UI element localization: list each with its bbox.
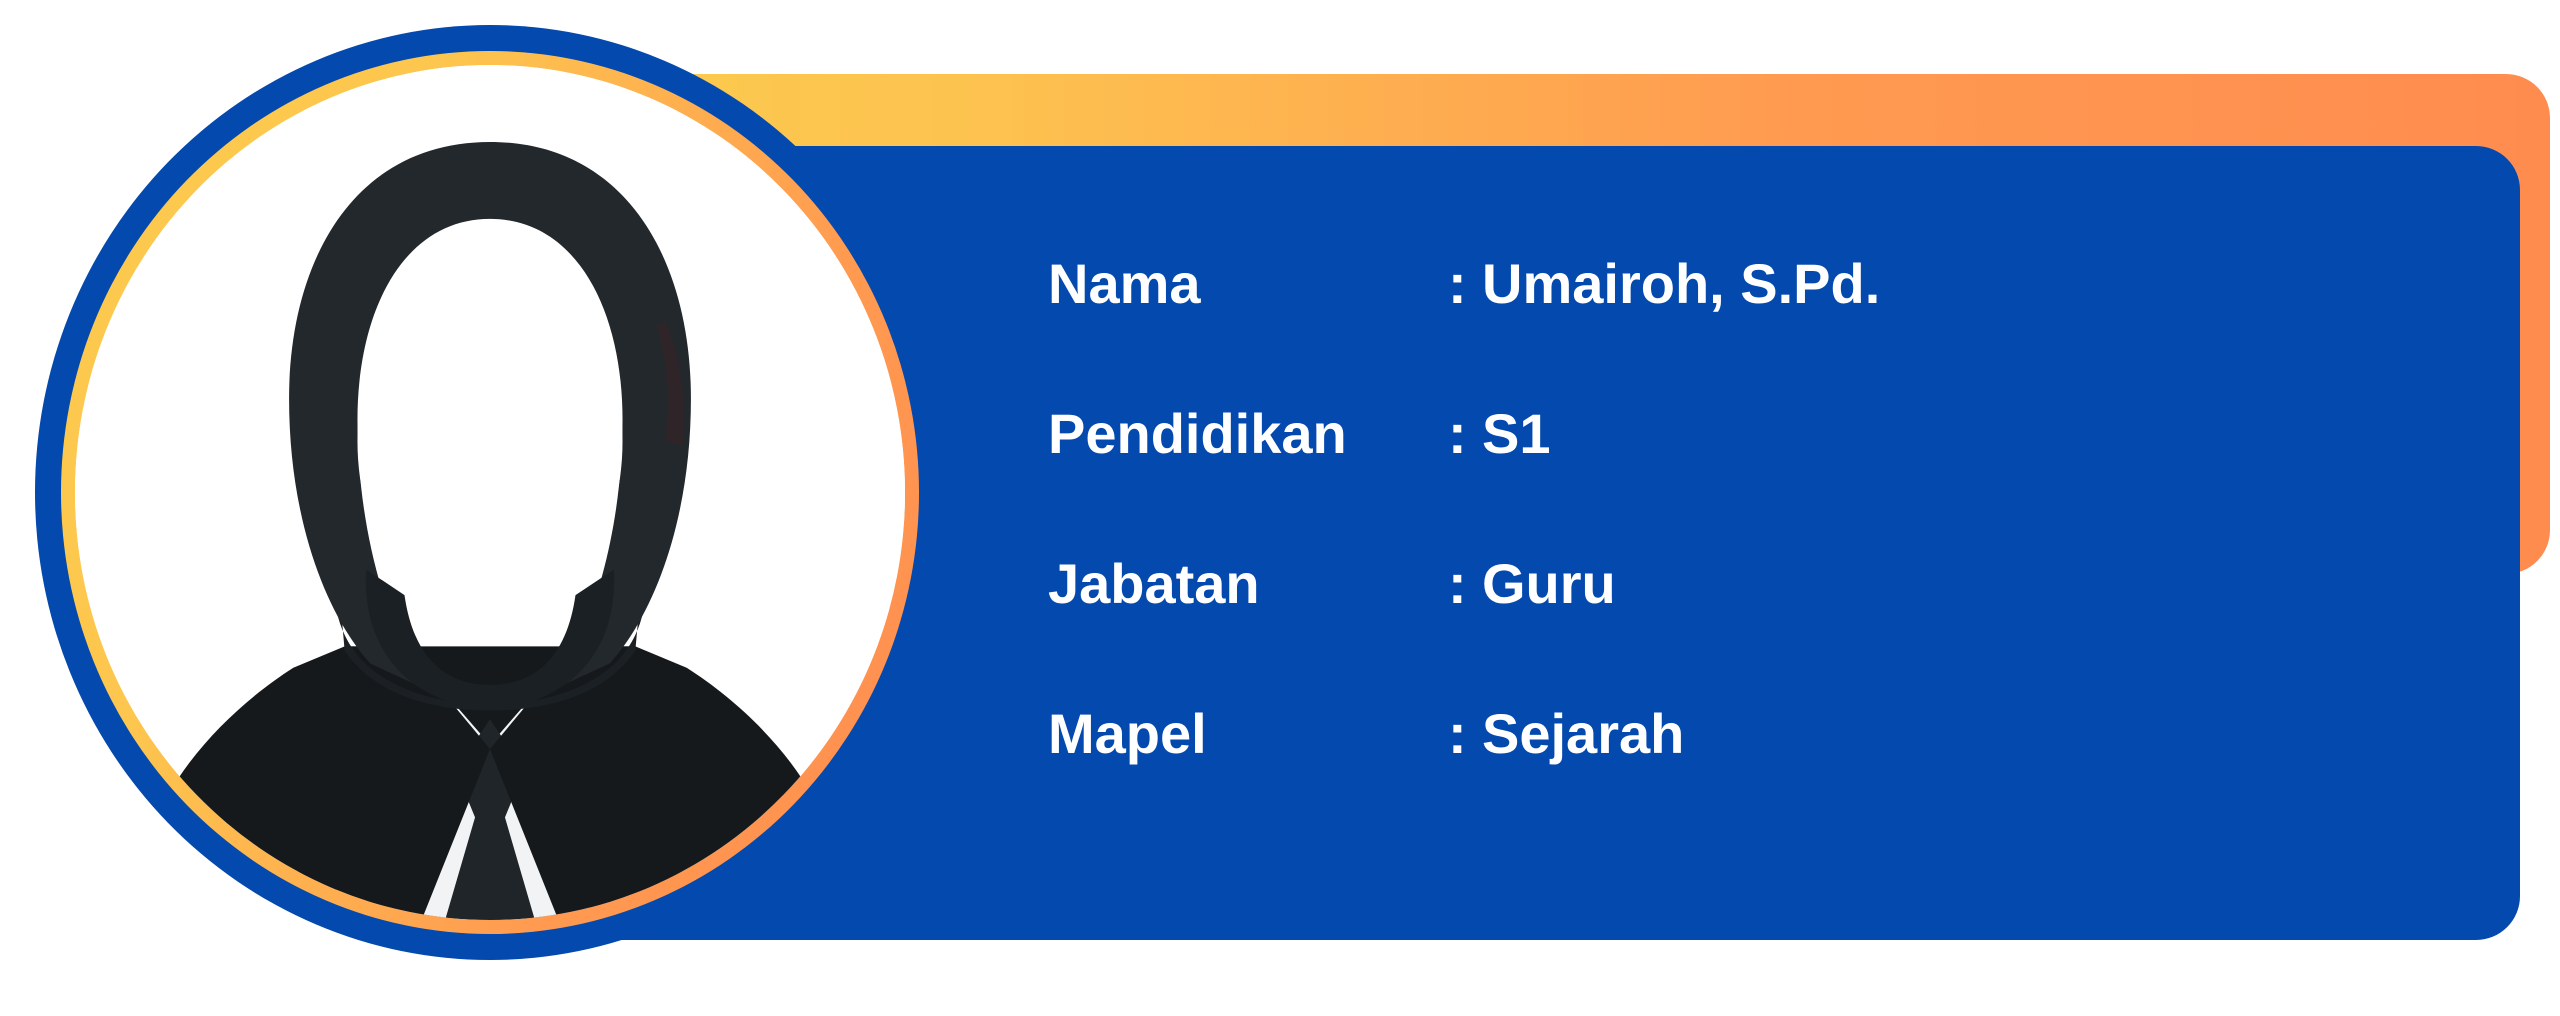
- detail-label-jabatan: Jabatan: [1048, 556, 1448, 612]
- profile-details-list: Nama : Umairoh, S.Pd. Pendidikan : S1 Ja…: [1048, 256, 2428, 856]
- detail-value-jabatan: Guru: [1482, 556, 2428, 612]
- detail-row-nama: Nama : Umairoh, S.Pd.: [1048, 256, 2428, 406]
- detail-row-jabatan: Jabatan : Guru: [1048, 556, 2428, 706]
- detail-row-pendidikan: Pendidikan : S1: [1048, 406, 2428, 556]
- detail-separator-jabatan: :: [1448, 556, 1482, 612]
- teacher-portrait-icon: [75, 65, 905, 920]
- detail-separator-nama: :: [1448, 256, 1482, 312]
- detail-value-mapel: Sejarah: [1482, 706, 2428, 762]
- detail-separator-mapel: :: [1448, 706, 1482, 762]
- detail-label-pendidikan: Pendidikan: [1048, 406, 1448, 462]
- detail-separator-pendidikan: :: [1448, 406, 1482, 462]
- detail-value-pendidikan: S1: [1482, 406, 2428, 462]
- detail-value-nama: Umairoh, S.Pd.: [1482, 256, 2428, 312]
- avatar-photo: [75, 65, 905, 920]
- avatar: [35, 25, 945, 960]
- detail-row-mapel: Mapel : Sejarah: [1048, 706, 2428, 856]
- profile-card-stage: Nama : Umairoh, S.Pd. Pendidikan : S1 Ja…: [0, 0, 2560, 1016]
- detail-label-mapel: Mapel: [1048, 706, 1448, 762]
- detail-label-nama: Nama: [1048, 256, 1448, 312]
